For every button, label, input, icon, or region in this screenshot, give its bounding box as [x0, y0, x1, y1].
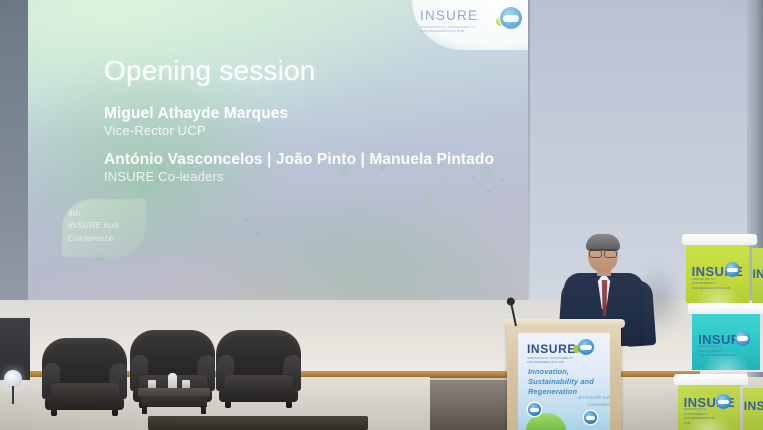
- cube-tagline-line1: INNOVATION for SUSTAINABILITY: [684, 407, 708, 415]
- hexagon-shape: [233, 230, 249, 248]
- floor-lamp: [2, 370, 28, 410]
- badge-line-3: Conference: [68, 233, 114, 243]
- hexagon-shape: [314, 120, 332, 140]
- coffee-table-leg: [142, 406, 147, 414]
- podium-tagline-line1: INNOVATION for SUSTAINABILITY: [527, 357, 574, 360]
- cube-globe-icon: [735, 331, 750, 346]
- cube-tagline: INNOVATION for SUSTAINABILITY AND REGENE…: [684, 407, 722, 425]
- cube-face: INSURE INNOVATION for SUSTAINABILITY AND…: [692, 312, 760, 370]
- slide-conference-badge: 4th INSURE.hub Conference: [68, 207, 119, 244]
- podium-event-line2: Conference: [587, 402, 610, 407]
- hexagon-shape: [458, 210, 484, 239]
- hexagon-shape: [290, 200, 308, 221]
- branded-cube-partial: INSURE: [743, 388, 763, 430]
- hexagon-shape: [494, 150, 524, 183]
- slide-logo-tagline-line1: INNOVATION for SUSTAINABILITY: [420, 25, 476, 29]
- podium-globe-icon: [578, 339, 594, 355]
- armchair-leg: [112, 407, 118, 416]
- podium-desk-edge: [503, 319, 625, 328]
- cube-tagline-line1: INNOVATION for SUSTAINABILITY: [692, 277, 716, 285]
- podium: INSURE INNOVATION for SUSTAINABILITY AND…: [507, 324, 621, 430]
- armchair: [42, 338, 127, 416]
- podium-tagline-line2: AND REGENERATION HUB: [527, 361, 564, 364]
- armchair: [216, 330, 301, 408]
- molecule-node: [256, 232, 260, 236]
- cube-tagline-line2: AND REGENERATION HUB: [698, 353, 737, 357]
- conference-photo: INSURE INNOVATION for SUSTAINABILITY AND…: [0, 0, 763, 430]
- branded-cube: INSURE INNOVATION for SUSTAINABILITY AND…: [686, 243, 749, 303]
- slide-speaker-2: António Vasconcelos | João Pinto | Manue…: [104, 150, 494, 186]
- projected-slide: INSURE INNOVATION for SUSTAINABILITY AND…: [28, 0, 528, 300]
- cube-face: INSURE INNOVATION for SUSTAINABILITY AND…: [678, 383, 740, 430]
- slide-insure-logo: INSURE INNOVATION for SUSTAINABILITY AND…: [420, 9, 520, 34]
- hexagon-shape: [168, 245, 186, 265]
- front-bench: [148, 416, 368, 430]
- cube-face: INSURE INNOVATION for SUSTAINABILITY AND…: [686, 243, 749, 303]
- podium-slogan: Innovation, Sustainability and Regenerat…: [528, 367, 606, 397]
- branded-cube: INSURE INNOVATION for SUSTAINABILITY AND…: [692, 312, 760, 370]
- slide-logo-tagline: INNOVATION for SUSTAINABILITY AND REGENE…: [420, 25, 494, 34]
- cube-top-cap: [682, 234, 757, 245]
- badge-text: 4th INSURE.hub Conference: [68, 207, 119, 244]
- hexagon-shape: [366, 188, 390, 215]
- hexagon-shape: [178, 200, 200, 225]
- lamp-stem: [12, 386, 14, 404]
- armchair-leg: [286, 399, 292, 408]
- podium-event-info: 4th INSURE.hub Conference: [558, 395, 610, 408]
- cube-tagline-line2: AND REGENERATION HUB: [692, 286, 731, 290]
- wall-left-dark-strip: [0, 0, 30, 335]
- slide-speaker-1-name: Miguel Athayde Marques: [104, 104, 288, 123]
- podium-branded-panel: INSURE INNOVATION for SUSTAINABILITY AND…: [518, 333, 610, 430]
- molecule-bond: [246, 220, 257, 230]
- cube-tagline-line2: AND REGENERATION HUB: [684, 416, 715, 424]
- cube-face: INSURE: [743, 388, 763, 430]
- slide-speaker-2-role: INSURE Co-leaders: [104, 169, 494, 186]
- coffee-table: [138, 388, 210, 414]
- cube-wordmark: INSURE: [744, 400, 763, 412]
- molecule-node: [500, 178, 504, 182]
- slide-title: Opening session: [104, 55, 316, 87]
- cube-face: INSURE: [752, 248, 763, 303]
- podium-event-line1: 4th INSURE.hub: [578, 395, 610, 400]
- cube-tagline: INNOVATION for SUSTAINABILITY AND REGENE…: [692, 277, 731, 290]
- badge-line-2: INSURE.hub: [68, 220, 119, 230]
- slide-logo-tagline-line2: AND REGENERATION HUB: [420, 29, 464, 33]
- cube-top-cap: [688, 303, 763, 314]
- eyeglasses-icon: [589, 249, 617, 256]
- podium-partner-logo: [584, 411, 597, 424]
- cube-tagline: INNOVATION for SUSTAINABILITY AND REGENE…: [698, 344, 740, 357]
- logo-globe-icon: [500, 7, 522, 29]
- hexagon-shape: [378, 232, 395, 251]
- coffee-table-leg: [201, 406, 206, 414]
- cube-tagline-line1: INNOVATION for SUSTAINABILITY: [698, 344, 722, 352]
- branded-cube: INSURE INNOVATION for SUSTAINABILITY AND…: [678, 383, 740, 430]
- cube-top-cap: [674, 374, 748, 385]
- podium-partner-logo: [528, 403, 541, 416]
- coffee-table-body: [141, 396, 207, 407]
- cube-wordmark: INSURE: [752, 268, 763, 280]
- hexagon-shape: [38, 130, 66, 161]
- slide-speaker-2-name: António Vasconcelos | João Pinto | Manue…: [104, 150, 494, 169]
- branded-cube-partial: INSURE: [752, 248, 763, 303]
- slide-speaker-1: Miguel Athayde Marques Vice-Rector UCP: [104, 104, 288, 140]
- armchair-leg: [225, 399, 231, 408]
- podium-logo-tagline: INNOVATION for SUSTAINABILITY AND REGENE…: [527, 357, 583, 365]
- armchair-leg: [51, 407, 57, 416]
- hexagon-filled-shape: [424, 192, 433, 202]
- slide-speaker-1-role: Vice-Rector UCP: [104, 123, 288, 140]
- badge-line-1: 4th: [68, 208, 80, 218]
